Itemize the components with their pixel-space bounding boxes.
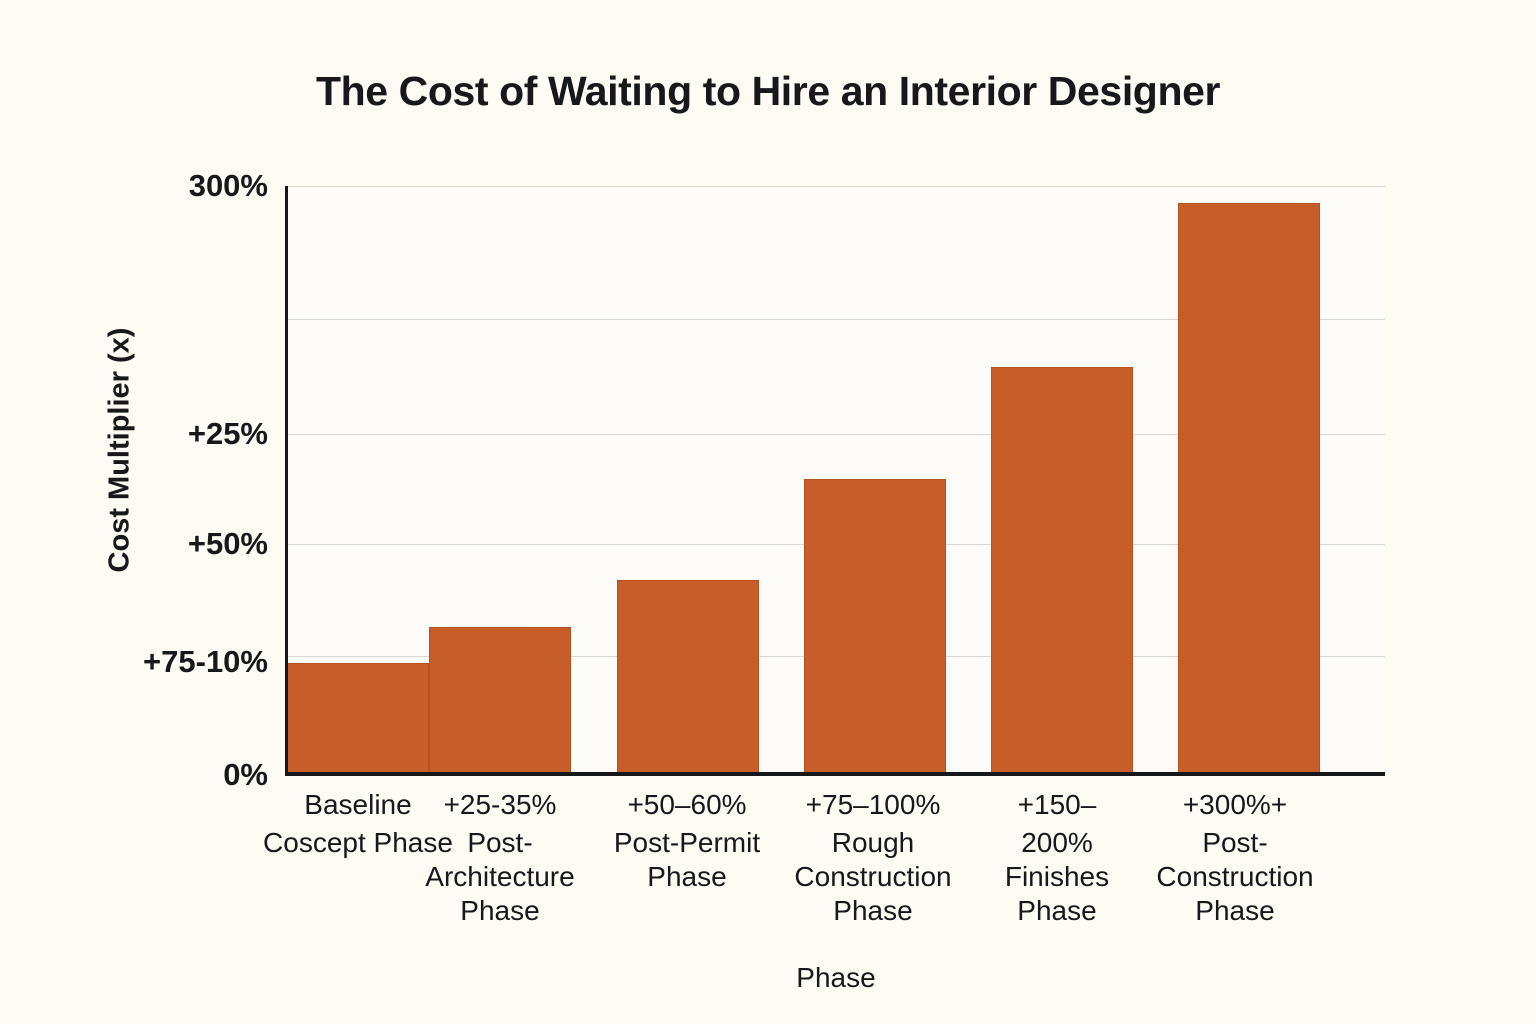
x-tick-label-finishes-phase: +150– 200% Finishes Phase	[972, 788, 1142, 928]
y-axis-tick-labels: 300% +25% +50% +75-10% 0%	[0, 0, 268, 1024]
x-tick-value: +150–	[972, 788, 1142, 822]
x-tick-value: +25-35%	[399, 788, 601, 822]
y-tick-label: +25%	[8, 416, 268, 452]
x-axis-spine	[285, 772, 1385, 776]
bar-post-permit-phase[interactable]	[617, 580, 759, 773]
y-tick-label: +75-10%	[8, 644, 268, 680]
x-tick-label-post-construction-phase: +300%+ Post-Construction Phase	[1130, 788, 1340, 928]
plot-area	[287, 186, 1385, 773]
bar-post-architecture-phase[interactable]	[429, 627, 571, 773]
bar-finishes-phase[interactable]	[991, 367, 1133, 773]
x-tick-name: Post-Permit Phase	[586, 826, 788, 894]
x-tick-value: +50–60%	[586, 788, 788, 822]
x-axis-title: Phase	[287, 962, 1385, 994]
bar-rough-construction-phase[interactable]	[804, 479, 946, 773]
x-tick-label-rough-construction-phase: +75–100% Rough Construction Phase	[770, 788, 976, 928]
y-tick-label: 0%	[8, 757, 268, 793]
x-tick-name: 200% Finishes Phase	[972, 826, 1142, 928]
x-tick-name: Post-Architecture Phase	[399, 826, 601, 928]
y-tick-label: +50%	[8, 526, 268, 562]
x-tick-label-post-permit-phase: +50–60% Post-Permit Phase	[586, 788, 788, 894]
chart-figure: The Cost of Waiting to Hire an Interior …	[0, 0, 1536, 1024]
gridline	[287, 186, 1385, 187]
x-tick-name: Post-Construction Phase	[1130, 826, 1340, 928]
bar-coscept-phase[interactable]	[287, 663, 429, 773]
y-axis-spine	[285, 186, 288, 775]
bar-post-construction-phase[interactable]	[1178, 203, 1320, 773]
y-tick-label: 300%	[8, 168, 268, 204]
x-tick-name: Rough Construction Phase	[770, 826, 976, 928]
x-tick-label-post-architecture-phase: +25-35% Post-Architecture Phase	[399, 788, 601, 928]
x-tick-value: +300%+	[1130, 788, 1340, 822]
x-tick-value: +75–100%	[770, 788, 976, 822]
